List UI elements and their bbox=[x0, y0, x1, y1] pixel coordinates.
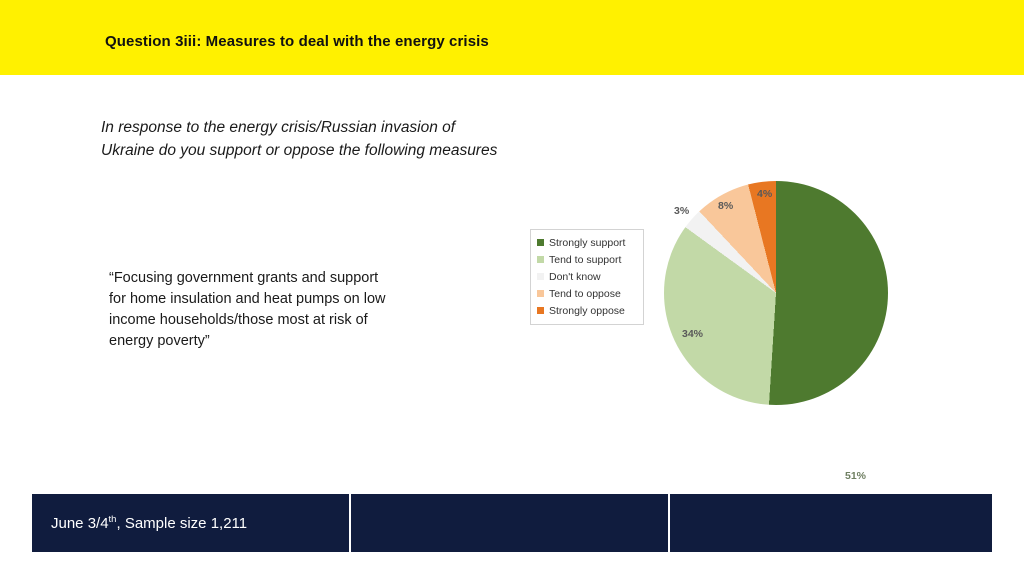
legend-label: Don't know bbox=[549, 271, 601, 283]
legend-label: Tend to oppose bbox=[549, 288, 621, 300]
legend-label: Strongly support bbox=[549, 237, 625, 249]
pie-slice-label-tend-to-support: 34% bbox=[682, 328, 703, 340]
legend-swatch-dont-know bbox=[537, 273, 544, 280]
legend-label: Tend to support bbox=[549, 254, 621, 266]
legend-item: Tend to oppose bbox=[537, 285, 637, 302]
legend-swatch-tend-to-oppose bbox=[537, 290, 544, 297]
pie-slice-label-strongly-oppose: 4% bbox=[757, 188, 772, 200]
header-banner: Question 3iii: Measures to deal with the… bbox=[0, 0, 1024, 75]
legend-swatch-strongly-oppose bbox=[537, 307, 544, 314]
legend-item: Tend to support bbox=[537, 251, 637, 268]
footer-cell-middle bbox=[351, 494, 670, 552]
pie-chart: 51% 34% 3% 8% 4% bbox=[664, 181, 888, 405]
legend-swatch-tend-to-support bbox=[537, 256, 544, 263]
statement-text: “Focusing government grants and support … bbox=[109, 268, 399, 352]
footer-bar: June 3/4th, Sample size 1,211 bbox=[32, 494, 992, 552]
pie-slice-label-dont-know: 3% bbox=[674, 205, 689, 217]
pie-slice-label-tend-to-oppose: 8% bbox=[718, 200, 733, 212]
footer-cell-source: June 3/4th, Sample size 1,211 bbox=[32, 494, 351, 552]
chart-legend: Strongly support Tend to support Don't k… bbox=[530, 229, 644, 325]
legend-item: Strongly oppose bbox=[537, 302, 637, 319]
legend-label: Strongly oppose bbox=[549, 305, 625, 317]
footer-date: June 3/4 bbox=[51, 515, 109, 532]
legend-item: Strongly support bbox=[537, 234, 637, 251]
pie-slice-label-strongly-support: 51% bbox=[845, 470, 866, 482]
footer-sample: , Sample size 1,211 bbox=[116, 515, 247, 532]
pie-disc bbox=[664, 181, 888, 405]
question-text: In response to the energy crisis/Russian… bbox=[101, 117, 501, 163]
page-title: Question 3iii: Measures to deal with the… bbox=[105, 33, 489, 50]
legend-swatch-strongly-support bbox=[537, 239, 544, 246]
legend-item: Don't know bbox=[537, 268, 637, 285]
footer-source-text: June 3/4th, Sample size 1,211 bbox=[51, 514, 247, 532]
footer-cell-right bbox=[670, 494, 990, 552]
